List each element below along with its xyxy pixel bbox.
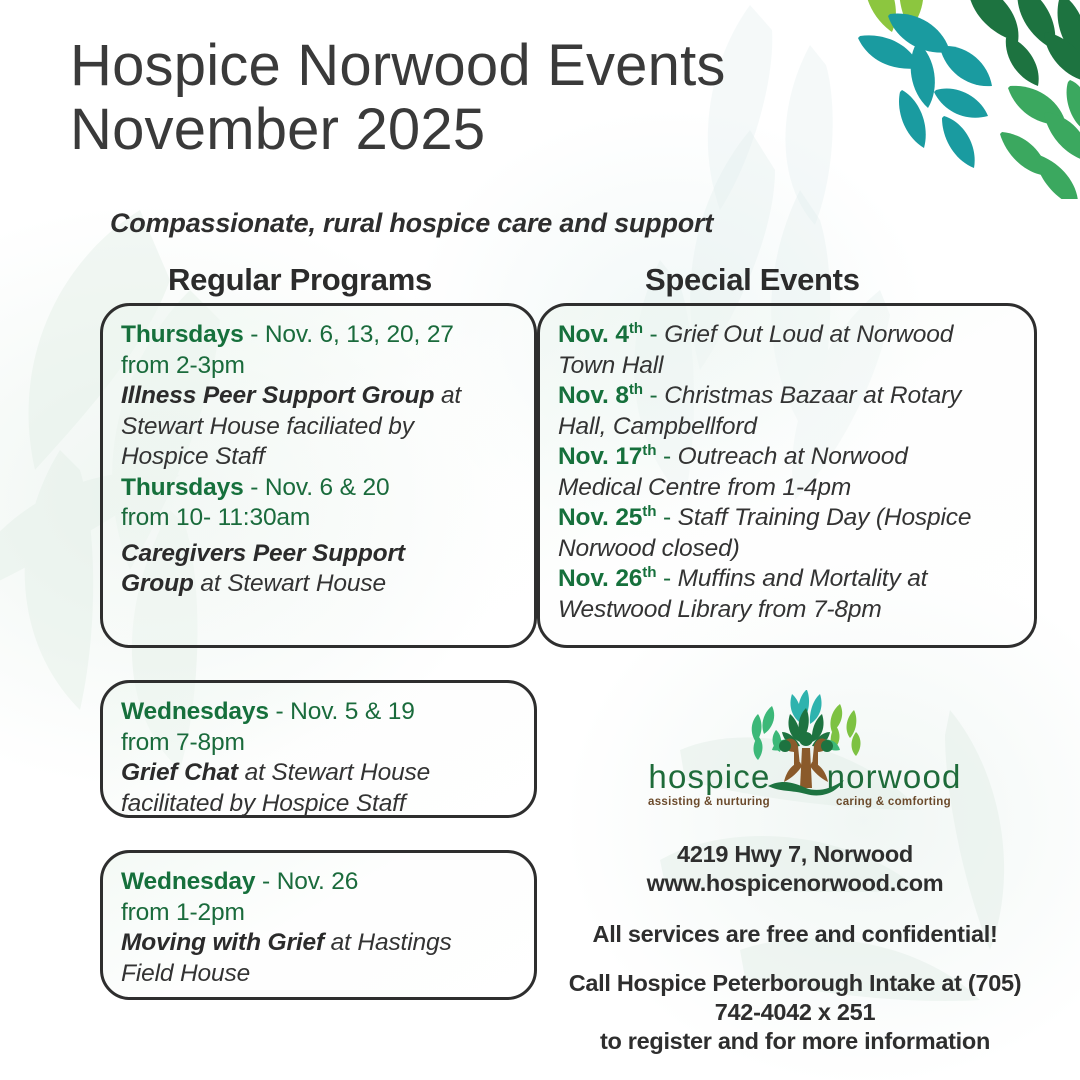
logo-tagline-right: caring & comforting [836,796,951,808]
program-day: Thursdays [121,321,244,348]
event-dash: - [643,321,664,348]
event-date: Nov. 17 [558,443,642,470]
program-detail-2-1: at Stewart House [194,570,386,597]
special-event-line: Nov. 25th - Staff Training Day (Hospice [558,503,1012,534]
program-schedule-line: Wednesday - Nov. 26 [121,867,512,898]
event-dash: - [656,504,677,531]
program-detail-1: at Stewart House [238,759,430,786]
event-desc-1: Grief Out Loud at Norwood [664,321,953,348]
logo-word-hospice: hospice [648,758,770,795]
regular-program-card-1[interactable]: Thursdays - Nov. 6, 13, 20, 27 from 2-3p… [100,303,537,648]
event-dash: - [656,565,677,592]
special-event-line: Nov. 8th - Christmas Bazaar at Rotary [558,381,1012,412]
program-detail-1: at [434,382,461,409]
program-detail-2: Stewart House faciliated by [121,412,512,443]
special-event-line: Nov. 4th - Grief Out Loud at Norwood [558,320,1012,351]
event-date-suffix: th [642,442,656,459]
program-dash-2: - [244,474,265,501]
program-title-line: Illness Peer Support Group at [121,381,512,412]
program-name: Moving with Grief [121,929,324,956]
special-event-line: Nov. 17th - Outreach at Norwood [558,442,1012,473]
program-name: Illness Peer Support Group [121,382,434,409]
program-dates: Nov. 5 & 19 [290,698,415,725]
program-schedule-line-2: Thursdays - Nov. 6 & 20 [121,473,512,504]
footer-contact-block: 4219 Hwy 7, Norwood www.hospicenorwood.c… [530,840,1060,1056]
program-detail-3: Hospice Staff [121,442,512,473]
special-events-card[interactable]: Nov. 4th - Grief Out Loud at Norwood Tow… [537,303,1037,648]
event-desc-2: Hall, Campbellford [558,412,1012,443]
program-name: Grief Chat [121,759,238,786]
program-time: from 7-8pm [121,728,512,759]
program-name-2-line-b: Group at Stewart House [121,569,512,600]
program-dash: - [244,321,265,348]
regular-program-card-2[interactable]: Wednesdays - Nov. 5 & 19 from 7-8pm Grie… [100,680,537,818]
poster-canvas: Hospice Norwood Events November 2025 Com… [0,0,1080,1080]
program-detail-2: Field House [121,959,512,990]
event-date-suffix: th [629,381,643,398]
title-line-1: Hospice Norwood Events [70,34,870,98]
regular-program-card-3[interactable]: Wednesday - Nov. 26 from 1-2pm Moving wi… [100,850,537,1000]
footer-call-line-2: 742-4042 x 251 [530,998,1060,1027]
event-desc-2: Medical Centre from 1-4pm [558,473,1012,504]
section-header-special-events: Special Events [645,262,860,298]
special-event-line: Nov. 26th - Muffins and Mortality at [558,564,1012,595]
program-dates-2: Nov. 6 & 20 [265,474,390,501]
event-date-suffix: th [642,503,656,520]
title-line-2: November 2025 [70,98,870,162]
event-date-suffix: th [629,320,643,337]
event-dash: - [643,382,664,409]
event-desc-1: Christmas Bazaar at Rotary [664,382,961,409]
program-title-line: Grief Chat at Stewart House [121,758,512,789]
event-desc-2: Norwood closed) [558,534,1012,565]
event-date-suffix: th [642,564,656,581]
event-dash: - [656,443,677,470]
event-desc-1: Outreach at Norwood [678,443,908,470]
event-date: Nov. 25 [558,504,642,531]
event-date: Nov. 8 [558,382,629,409]
program-dash: - [255,868,276,895]
program-day-2: Thursdays [121,474,244,501]
program-day: Wednesday [121,868,255,895]
event-date: Nov. 4 [558,321,629,348]
tagline: Compassionate, rural hospice care and su… [110,208,713,239]
program-time: from 1-2pm [121,898,512,929]
footer-website[interactable]: www.hospicenorwood.com [530,869,1060,898]
program-dates: Nov. 6, 13, 20, 27 [265,321,454,348]
footer-spacer [530,949,1060,969]
event-desc-1: Muffins and Mortality at [678,565,928,592]
program-day: Wednesdays [121,698,269,725]
event-desc-2: Town Hall [558,351,1012,382]
program-name-2-line-a: Caregivers Peer Support [121,539,512,570]
program-detail-2: facilitated by Hospice Staff [121,789,512,820]
program-detail-1: at Hastings [324,929,452,956]
footer-spacer [530,898,1060,920]
event-desc-2: Westwood Library from 7-8pm [558,595,1012,626]
program-time: from 2-3pm [121,351,512,382]
logo-wordmark: hospicenorwood [640,758,970,796]
event-desc-1: Staff Training Day (Hospice [678,504,972,531]
footer-call-line-3: to register and for more information [530,1027,1060,1056]
section-header-regular-programs: Regular Programs [168,262,432,298]
program-dash: - [269,698,290,725]
logo-word-norwood: norwood [827,758,962,795]
page-title: Hospice Norwood Events November 2025 [70,34,870,162]
logo-tagline-left: assisting & nurturing [648,796,770,808]
program-title-line: Moving with Grief at Hastings [121,928,512,959]
program-schedule-line: Wednesdays - Nov. 5 & 19 [121,697,512,728]
program-dates: Nov. 26 [277,868,359,895]
decorative-leaf-cluster [840,0,1080,199]
program-schedule-line: Thursdays - Nov. 6, 13, 20, 27 [121,320,512,351]
program-time-2: from 10- 11:30am [121,503,512,534]
footer-call-line-1: Call Hospice Peterborough Intake at (705… [530,969,1060,998]
footer-free-note: All services are free and confidential! [530,920,1060,949]
program-name-2-cont: Group [121,570,194,597]
hospice-norwood-logo: hospicenorwood assisting & nurturing car… [640,688,970,828]
event-date: Nov. 26 [558,565,642,592]
footer-address: 4219 Hwy 7, Norwood [530,840,1060,869]
